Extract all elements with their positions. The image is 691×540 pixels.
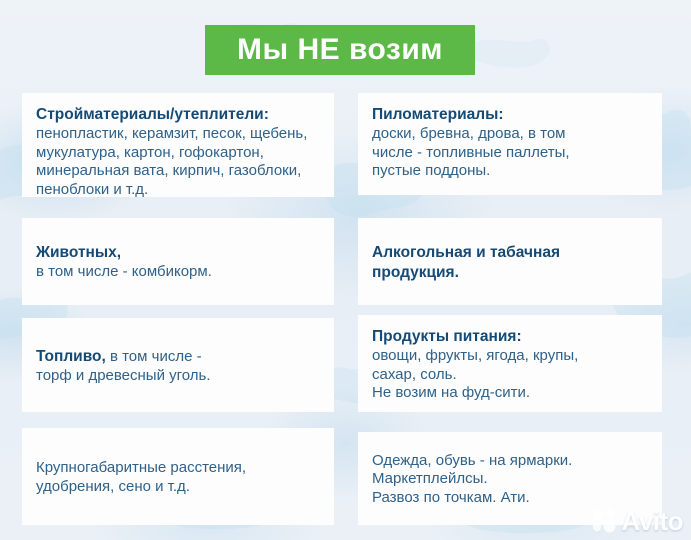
- body-line: Развоз по точкам. Ати.: [372, 489, 648, 508]
- page-title: Мы НЕ возим: [237, 35, 443, 65]
- body-line: овощи, фрукты, ягода, крупы,: [372, 347, 648, 366]
- card-fuel-body: торф и древесный уголь.: [36, 367, 320, 386]
- card-lumber-body: доски, бревна, дрова, в том числе - топл…: [372, 125, 648, 181]
- body-line: торф и древесный уголь.: [36, 367, 320, 386]
- body-line: Одежда, обувь - на ярмарки.: [372, 452, 648, 471]
- body-line: минеральная вата, кирпич, газоблоки,: [36, 162, 320, 181]
- title-banner: Мы НЕ возим: [205, 25, 475, 75]
- body-line: мукулатура, картон, гофокартон,: [36, 144, 320, 163]
- body-line: доски, бревна, дрова, в том: [372, 125, 648, 144]
- card-food-products-body: овощи, фрукты, ягода, крупы, сахар, соль…: [372, 347, 648, 403]
- body-line: пустые поддоны.: [372, 162, 648, 181]
- card-clothing-footwear-body: Одежда, обувь - на ярмарки. Маркетплейлс…: [372, 452, 648, 508]
- body-line: удобрения, сено и т.д.: [36, 478, 320, 497]
- card-clothing-footwear: Одежда, обувь - на ярмарки. Маркетплейлс…: [358, 432, 662, 525]
- card-food-products-title: Продукты питания:: [372, 327, 648, 346]
- card-building-materials: Стройматериалы/утеплители: пенопластик, …: [22, 93, 334, 197]
- card-animals-title: Животных,: [36, 243, 320, 262]
- body-line: числе - топливные паллеты,: [372, 144, 648, 163]
- card-fuel-title: Топливо,: [36, 348, 106, 365]
- body-line: в том числе - комбикорм.: [36, 263, 320, 282]
- card-fuel: Топливо, в том числе - торф и древесный …: [22, 318, 334, 412]
- body-line: пенопластик, керамзит, песок, щебень,: [36, 125, 320, 144]
- card-animals-body: в том числе - комбикорм.: [36, 263, 320, 282]
- card-fuel-title-rest: в том числе -: [106, 348, 202, 365]
- poster-canvas: Мы НЕ возим Стройматериалы/утеплители: п…: [0, 0, 691, 540]
- card-food-products: Продукты питания: овощи, фрукты, ягода, …: [358, 315, 662, 412]
- body-line: Крупногабаритные расстения,: [36, 459, 320, 478]
- card-building-materials-body: пенопластик, керамзит, песок, щебень, му…: [36, 125, 320, 197]
- card-lumber-title: Пиломатериалы:: [372, 105, 648, 124]
- body-line: пеноблоки и т.д.: [36, 181, 320, 198]
- body-line: сахар, соль.: [372, 366, 648, 385]
- card-alcohol-tobacco: Алкогольная и табачная продукция.: [358, 218, 662, 305]
- card-alcohol-tobacco-title-line-2: продукция.: [372, 263, 648, 282]
- body-line: Не возим на фуд-сити.: [372, 384, 648, 403]
- card-animals: Животных, в том числе - комбикорм.: [22, 218, 334, 305]
- card-oversize-goods: Крупногабаритные расстения, удобрения, с…: [22, 428, 334, 525]
- card-lumber: Пиломатериалы: доски, бревна, дрова, в т…: [358, 93, 662, 195]
- card-fuel-heading-row: Топливо, в том числе -: [36, 347, 320, 367]
- body-line: Маркетплейлсы.: [372, 470, 648, 489]
- card-alcohol-tobacco-title-line-1: Алкогольная и табачная: [372, 243, 648, 262]
- card-building-materials-title: Стройматериалы/утеплители:: [36, 105, 320, 124]
- card-oversize-goods-body: Крупногабаритные расстения, удобрения, с…: [36, 459, 320, 496]
